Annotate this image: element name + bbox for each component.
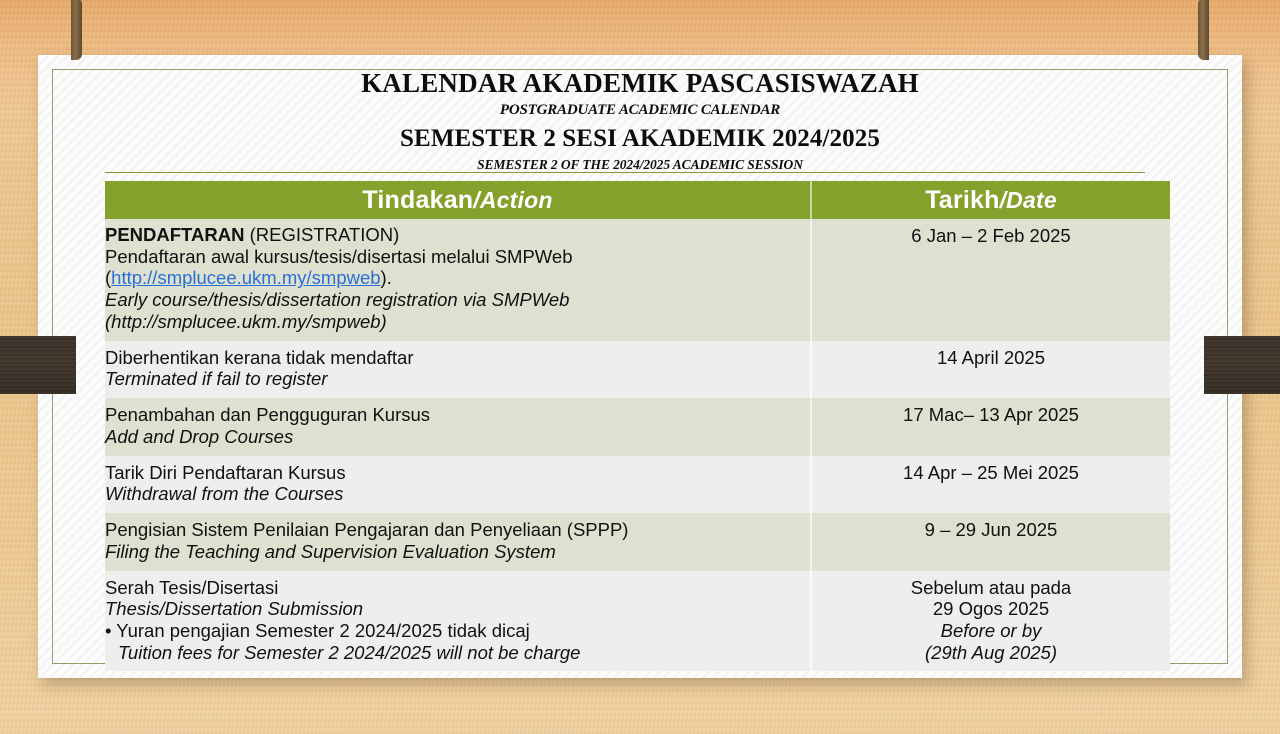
- smpweb-link[interactable]: http://smplucee.ukm.my/smpweb: [111, 267, 380, 288]
- row-date-line: 9 – 29 Jun 2025: [812, 519, 1170, 541]
- row-action-line-2: Pendaftaran awal kursus/tesis/disertasi …: [105, 246, 810, 268]
- row-action-line-3: (http://smplucee.ukm.my/smpweb).: [105, 267, 810, 289]
- column-header-action-sep: /: [473, 187, 480, 213]
- page-title-ms: KALENDAR AKADEMIK PASCASISWAZAH: [38, 68, 1242, 99]
- title-block: KALENDAR AKADEMIK PASCASISWAZAH POSTGRAD…: [38, 55, 1242, 175]
- paren-close: ).: [381, 267, 392, 288]
- row-action-ms: Tarik Diri Pendaftaran Kursus: [105, 462, 810, 484]
- row-date-cell: 14 April 2025: [811, 341, 1170, 398]
- row-action-cell: Serah Tesis/Disertasi Thesis/Dissertatio…: [105, 571, 811, 672]
- academic-calendar-table: Tindakan/Action Tarikh/Date PENDAFTARAN …: [105, 181, 1170, 671]
- row-action-cell: Pengisian Sistem Penilaian Pengajaran da…: [105, 513, 811, 570]
- row-action-en: Add and Drop Courses: [105, 426, 810, 448]
- row-date-cell: 14 Apr – 25 Mei 2025: [811, 456, 1170, 513]
- row-date-line: 6 Jan – 2 Feb 2025: [812, 225, 1170, 247]
- column-header-action-en: Action: [480, 187, 553, 213]
- title-divider-rule: [105, 172, 1145, 173]
- row-date-cell: 6 Jan – 2 Feb 2025: [811, 219, 1170, 341]
- row-action-bullet-en: Tuition fees for Semester 2 2024/2025 wi…: [105, 642, 810, 664]
- row-action-cell: Penambahan dan Pengguguran Kursus Add an…: [105, 398, 811, 455]
- row-date-line: 14 Apr – 25 Mei 2025: [812, 462, 1170, 484]
- left-ribbon-strap: [0, 336, 76, 394]
- row-date-line: Sebelum atau pada: [812, 577, 1170, 599]
- table-row: Pengisian Sistem Penilaian Pengajaran da…: [105, 513, 1170, 570]
- row-action-heading: PENDAFTARAN (REGISTRATION): [105, 224, 810, 246]
- page-title-en: POSTGRADUATE ACADEMIC CALENDAR: [38, 100, 1242, 121]
- row-date-cell: Sebelum atau pada 29 Ogos 2025 Before or…: [811, 571, 1170, 672]
- right-ribbon-cap: [1198, 0, 1209, 60]
- row-action-ms: Diberhentikan kerana tidak mendaftar: [105, 347, 810, 369]
- calendar-card: KALENDAR AKADEMIK PASCASISWAZAH POSTGRAD…: [38, 55, 1242, 678]
- table-row: Serah Tesis/Disertasi Thesis/Dissertatio…: [105, 571, 1170, 672]
- row-action-ms: Penambahan dan Pengguguran Kursus: [105, 404, 810, 426]
- table-row: Penambahan dan Pengguguran Kursus Add an…: [105, 398, 1170, 455]
- row-action-heading-ms: PENDAFTARAN: [105, 224, 250, 245]
- row-date-line: (29th Aug 2025): [812, 642, 1170, 664]
- table-header-row: Tindakan/Action Tarikh/Date: [105, 181, 1170, 219]
- row-action-bullet-ms: • Yuran pengajian Semester 2 2024/2025 t…: [105, 620, 810, 642]
- left-ribbon-cap: [71, 0, 82, 60]
- column-header-action-ms: Tindakan: [362, 186, 473, 214]
- table-row: Tarik Diri Pendaftaran Kursus Withdrawal…: [105, 456, 1170, 513]
- row-action-cell: Diberhentikan kerana tidak mendaftar Ter…: [105, 341, 811, 398]
- column-header-date-ms: Tarikh: [925, 186, 999, 214]
- row-action-en: Filing the Teaching and Supervision Eval…: [105, 541, 810, 563]
- row-action-en: Withdrawal from the Courses: [105, 483, 810, 505]
- table-row: Diberhentikan kerana tidak mendaftar Ter…: [105, 341, 1170, 398]
- row-action-ms: Pengisian Sistem Penilaian Pengajaran da…: [105, 519, 810, 541]
- row-action-en: Terminated if fail to register: [105, 368, 810, 390]
- row-action-line-5: (http://smplucee.ukm.my/smpweb): [105, 311, 810, 333]
- row-date-line: 17 Mac– 13 Apr 2025: [812, 404, 1170, 426]
- table-row: PENDAFTARAN (REGISTRATION) Pendaftaran a…: [105, 219, 1170, 341]
- column-header-action: Tindakan/Action: [105, 181, 811, 219]
- row-date-cell: 17 Mac– 13 Apr 2025: [811, 398, 1170, 455]
- column-header-date-en: Date: [1006, 187, 1057, 213]
- row-action-heading-en: (REGISTRATION): [250, 224, 400, 245]
- row-date-line: 14 April 2025: [812, 347, 1170, 369]
- right-ribbon-strap: [1204, 336, 1280, 394]
- row-action-ms: Serah Tesis/Disertasi: [105, 577, 810, 599]
- column-header-date: Tarikh/Date: [811, 181, 1170, 219]
- row-date-line: 29 Ogos 2025: [812, 598, 1170, 620]
- row-date-cell: 9 – 29 Jun 2025: [811, 513, 1170, 570]
- row-action-en: Thesis/Dissertation Submission: [105, 598, 810, 620]
- row-action-cell: PENDAFTARAN (REGISTRATION) Pendaftaran a…: [105, 219, 811, 341]
- row-action-line-4: Early course/thesis/dissertation registr…: [105, 289, 810, 311]
- page-subtitle-ms: SEMESTER 2 SESI AKADEMIK 2024/2025: [38, 124, 1242, 154]
- row-action-cell: Tarik Diri Pendaftaran Kursus Withdrawal…: [105, 456, 811, 513]
- row-date-line: Before or by: [812, 620, 1170, 642]
